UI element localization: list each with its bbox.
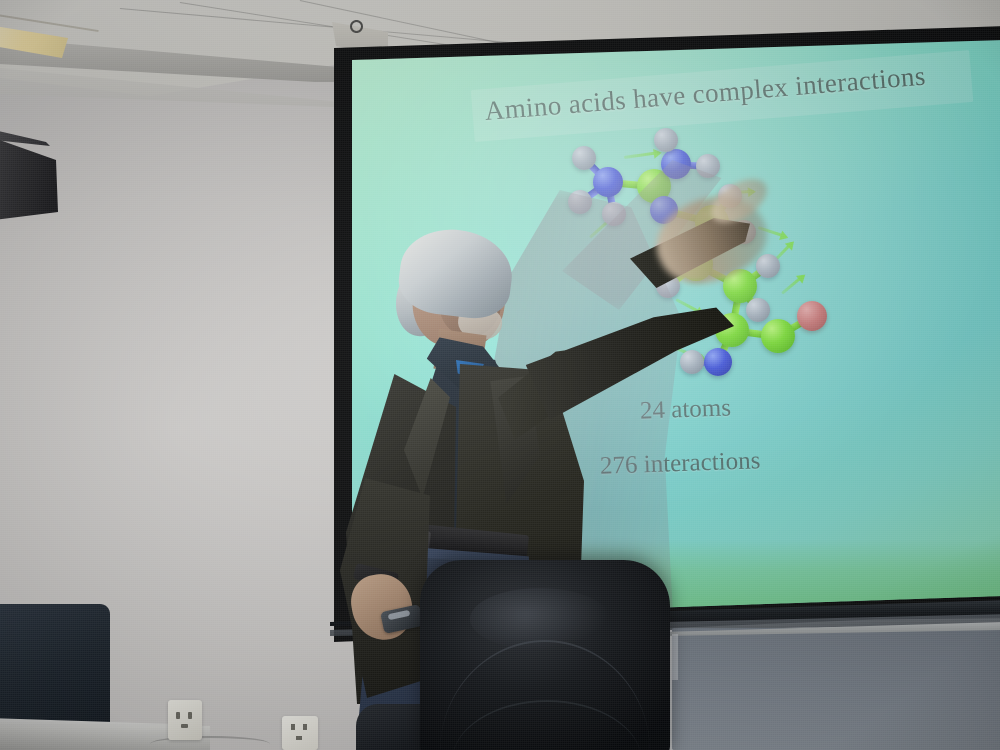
atom-n <box>593 167 623 197</box>
outlet-slot <box>181 724 188 728</box>
outlet-slot <box>303 724 307 730</box>
laptop-screen[interactable] <box>0 604 110 726</box>
lecture-room-photo: Amino acids have complex interactions 24… <box>0 0 1000 750</box>
atom-h <box>654 128 678 152</box>
presenter-raised-arm <box>523 307 738 426</box>
atom-h <box>756 254 780 278</box>
outlet-slot <box>296 736 302 740</box>
atom-o <box>797 301 827 331</box>
force-arrow-icon <box>781 274 804 294</box>
outlet-slot <box>291 724 295 730</box>
outlet-slot <box>188 712 192 719</box>
whiteboard <box>672 628 1000 750</box>
wall-outlet[interactable] <box>282 716 318 750</box>
atom-h <box>746 298 770 322</box>
force-arrow-icon <box>624 151 660 159</box>
wall-outlet[interactable] <box>168 700 202 740</box>
screen-hook-icon <box>350 20 363 33</box>
outlet-slot <box>176 712 180 719</box>
atom-h <box>572 146 596 170</box>
atom-c <box>761 319 795 353</box>
